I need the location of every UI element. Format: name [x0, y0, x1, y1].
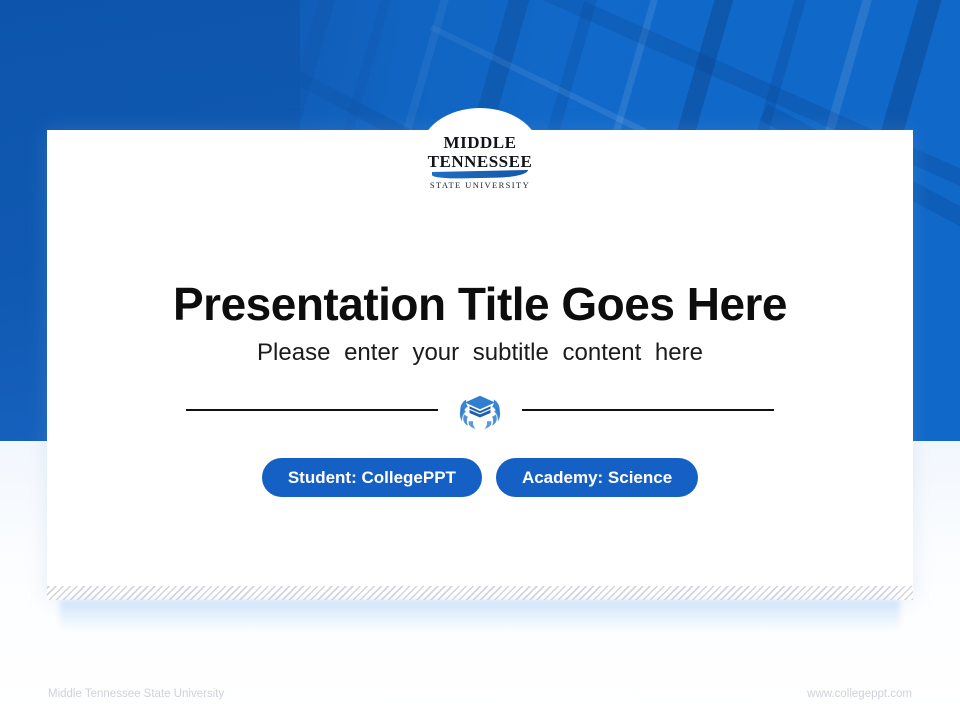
divider-line-right: [522, 409, 774, 411]
divider-line-left: [186, 409, 438, 411]
academy-pill-button[interactable]: Academy: Science: [496, 458, 698, 497]
pill-row: Student: CollegePPT Academy: Science: [0, 458, 960, 497]
mtsu-logo: MIDDLE TENNESSEE STATE UNIVERSITY: [0, 134, 960, 190]
presentation-slide: MIDDLE TENNESSEE STATE UNIVERSITY Presen…: [0, 0, 960, 720]
graduation-cap-laurel-icon: [456, 386, 504, 434]
hatched-band: [47, 586, 913, 600]
footer-left-text: Middle Tennessee State University: [48, 688, 224, 700]
student-pill-button[interactable]: Student: CollegePPT: [262, 458, 482, 497]
footer: Middle Tennessee State University www.co…: [0, 684, 960, 704]
logo-swoosh-icon: [432, 170, 528, 179]
page-title: Presentation Title Goes Here: [0, 277, 960, 331]
logo-line-state-university: STATE UNIVERSITY: [0, 181, 960, 190]
logo-line-middle: MIDDLE: [0, 134, 960, 151]
divider-row: [0, 385, 960, 435]
page-subtitle: Please enter your subtitle content here: [0, 339, 960, 367]
footer-right-text: www.collegeppt.com: [807, 688, 912, 700]
logo-line-tennessee: TENNESSEE: [0, 153, 960, 170]
hatched-band-glow: [60, 600, 900, 632]
